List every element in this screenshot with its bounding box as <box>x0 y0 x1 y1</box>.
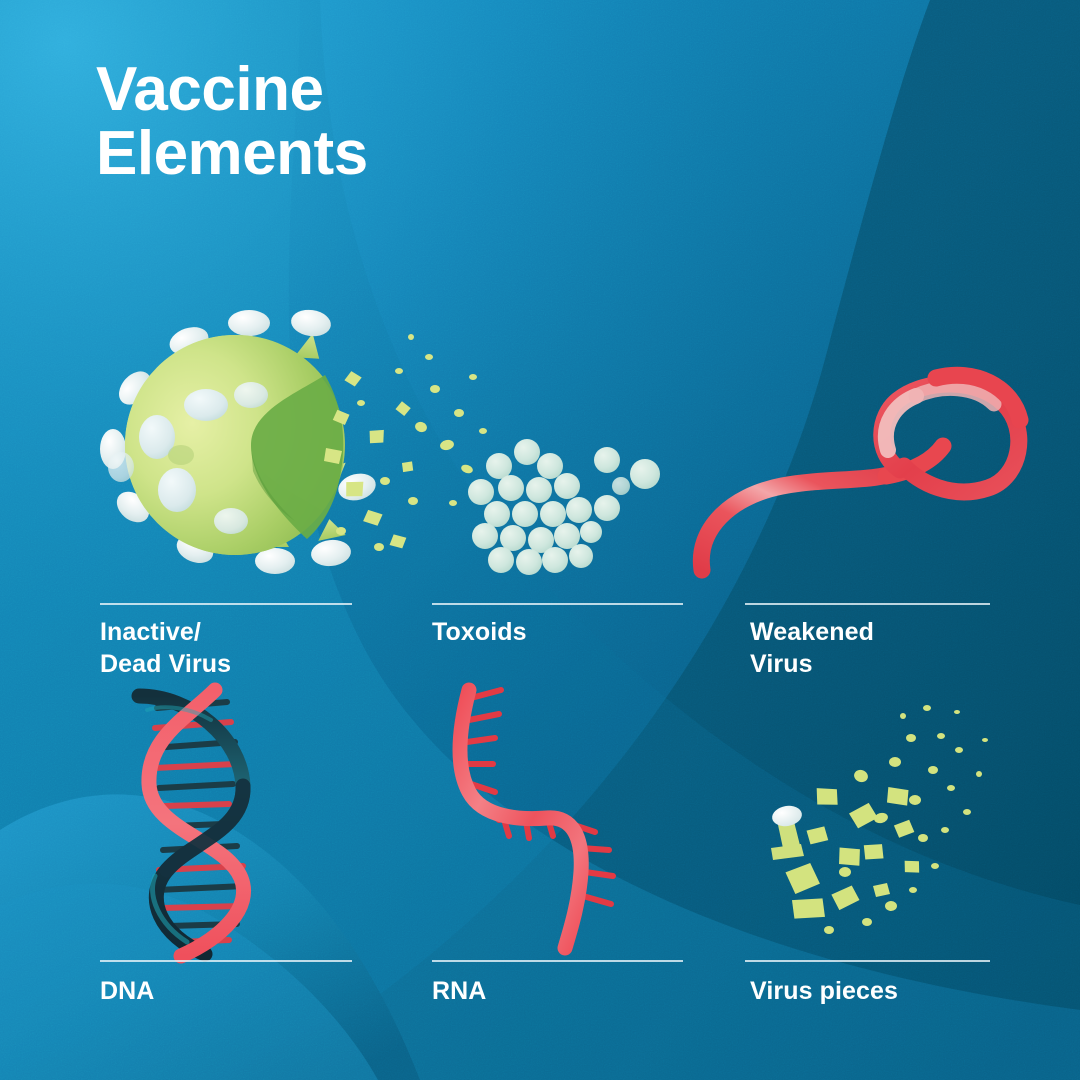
toxoid-particle-cluster-icon <box>455 430 695 585</box>
fragment-spike-protein <box>770 804 804 860</box>
page-title: Vaccine Elements <box>96 58 616 187</box>
filament-tail <box>701 470 902 570</box>
toxoid-particles <box>468 439 660 575</box>
filament-highlight-b <box>916 388 994 404</box>
rna-single-strand-icon <box>425 680 645 960</box>
divider-inactive-dead-virus <box>100 603 352 605</box>
divider-weakened-virus <box>745 603 990 605</box>
virus-fragments-icon <box>745 690 995 945</box>
divider-virus-pieces <box>745 960 990 962</box>
divider-rna <box>432 960 683 962</box>
dna-double-helix-icon <box>95 680 315 960</box>
crumbling-coronavirus-icon <box>55 285 485 585</box>
divider-toxoids <box>432 603 683 605</box>
label-inactive-dead-virus: Inactive/ Dead Virus <box>100 616 231 680</box>
label-virus-pieces: Virus pieces <box>750 975 898 1007</box>
infographic-canvas: Vaccine Elements <box>0 0 1080 1080</box>
divider-dna <box>100 960 352 962</box>
label-dna: DNA <box>100 975 154 1007</box>
filament-virus-icon <box>690 320 1050 585</box>
label-weakened-virus: Weakened Virus <box>750 616 874 680</box>
label-toxoids: Toxoids <box>432 616 527 648</box>
label-rna: RNA <box>432 975 486 1007</box>
fragment-cluster <box>785 705 988 934</box>
rna-bases <box>467 690 613 904</box>
rna-backbone <box>460 690 581 948</box>
